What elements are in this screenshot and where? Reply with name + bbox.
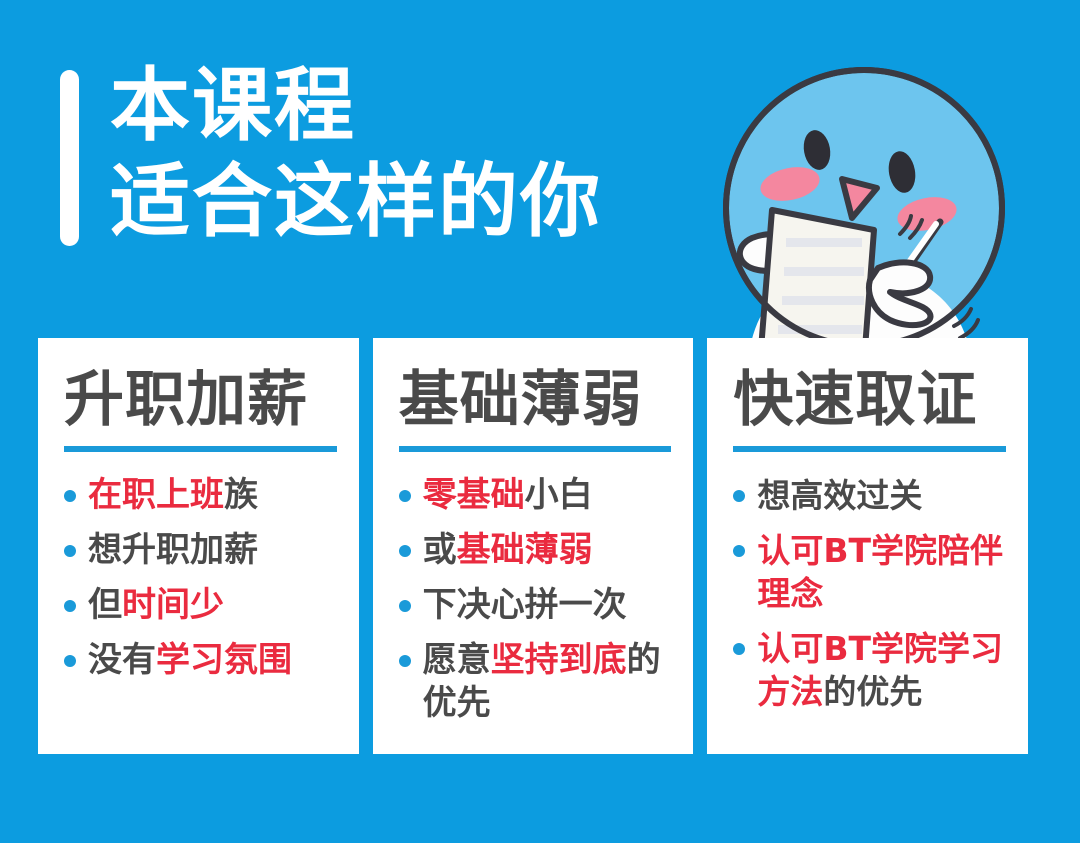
bullet-text: 认可BT学院学习方法的优先 xyxy=(757,627,1006,713)
bullet-dot-icon xyxy=(64,545,76,557)
bullet-text: 但时间少 xyxy=(88,584,224,627)
list-item: 或基础薄弱 xyxy=(399,529,672,572)
bullet-list: 零基础小白 或基础薄弱 下决心拼一次 愿意坚持到底的优先 xyxy=(399,474,672,725)
list-item: 下决心拼一次 xyxy=(399,584,672,627)
feature-cards: 升职加薪 在职上班族 想升职加薪 但时间少 没有学习氛围 基础薄弱 xyxy=(38,338,1028,754)
bullet-dot-icon xyxy=(64,490,76,502)
title-line-2: 适合这样的你 xyxy=(110,154,730,250)
list-item: 愿意坚持到底的优先 xyxy=(399,639,672,725)
mascot-illustration xyxy=(714,62,1014,362)
title-accent-bar xyxy=(60,70,79,246)
page-title: 本课程 适合这样的你 xyxy=(110,58,730,250)
bullet-text: 认可BT学院陪伴理念 xyxy=(757,529,1006,615)
card-fast-certification[interactable]: 快速取证 想高效过关 认可BT学院陪伴理念 认可BT学院学习方法的优先 xyxy=(707,338,1028,754)
card-title: 升职加薪 xyxy=(64,364,337,436)
list-item: 认可BT学院学习方法的优先 xyxy=(733,627,1006,713)
card-divider xyxy=(64,446,337,452)
bullet-text: 愿意坚持到底的优先 xyxy=(423,639,672,725)
title-line-1: 本课程 xyxy=(110,58,730,154)
bullet-dot-icon xyxy=(399,600,411,612)
list-item: 但时间少 xyxy=(64,584,337,627)
bullet-dot-icon xyxy=(399,545,411,557)
bullet-dot-icon xyxy=(64,600,76,612)
bullet-text: 想高效过关 xyxy=(757,474,922,517)
header: 本课程 适合这样的你 xyxy=(0,0,1080,330)
card-divider xyxy=(399,446,672,452)
card-title: 基础薄弱 xyxy=(399,364,672,436)
list-item: 零基础小白 xyxy=(399,474,672,517)
card-divider xyxy=(733,446,1006,452)
bullet-dot-icon xyxy=(399,490,411,502)
bullet-list: 在职上班族 想升职加薪 但时间少 没有学习氛围 xyxy=(64,474,337,682)
bullet-text: 或基础薄弱 xyxy=(423,529,593,572)
list-item: 想升职加薪 xyxy=(64,529,337,572)
list-item: 没有学习氛围 xyxy=(64,639,337,682)
bullet-text: 零基础小白 xyxy=(423,474,593,517)
bullet-text: 在职上班族 xyxy=(88,474,258,517)
card-weak-foundation[interactable]: 基础薄弱 零基础小白 或基础薄弱 下决心拼一次 愿意坚持到底的优先 xyxy=(373,338,694,754)
card-title: 快速取证 xyxy=(733,364,1006,436)
bullet-dot-icon xyxy=(733,545,745,557)
list-item: 想高效过关 xyxy=(733,474,1006,517)
bullet-text: 没有学习氛围 xyxy=(88,639,292,682)
bullet-dot-icon xyxy=(399,655,411,667)
list-item: 认可BT学院陪伴理念 xyxy=(733,529,1006,615)
bullet-dot-icon xyxy=(733,490,745,502)
bullet-list: 想高效过关 认可BT学院陪伴理念 认可BT学院学习方法的优先 xyxy=(733,474,1006,713)
bullet-dot-icon xyxy=(64,655,76,667)
bullet-dot-icon xyxy=(733,643,745,655)
bullet-text: 想升职加薪 xyxy=(88,529,258,572)
card-promotion-raise[interactable]: 升职加薪 在职上班族 想升职加薪 但时间少 没有学习氛围 xyxy=(38,338,359,754)
list-item: 在职上班族 xyxy=(64,474,337,517)
bullet-text: 下决心拼一次 xyxy=(423,584,627,627)
